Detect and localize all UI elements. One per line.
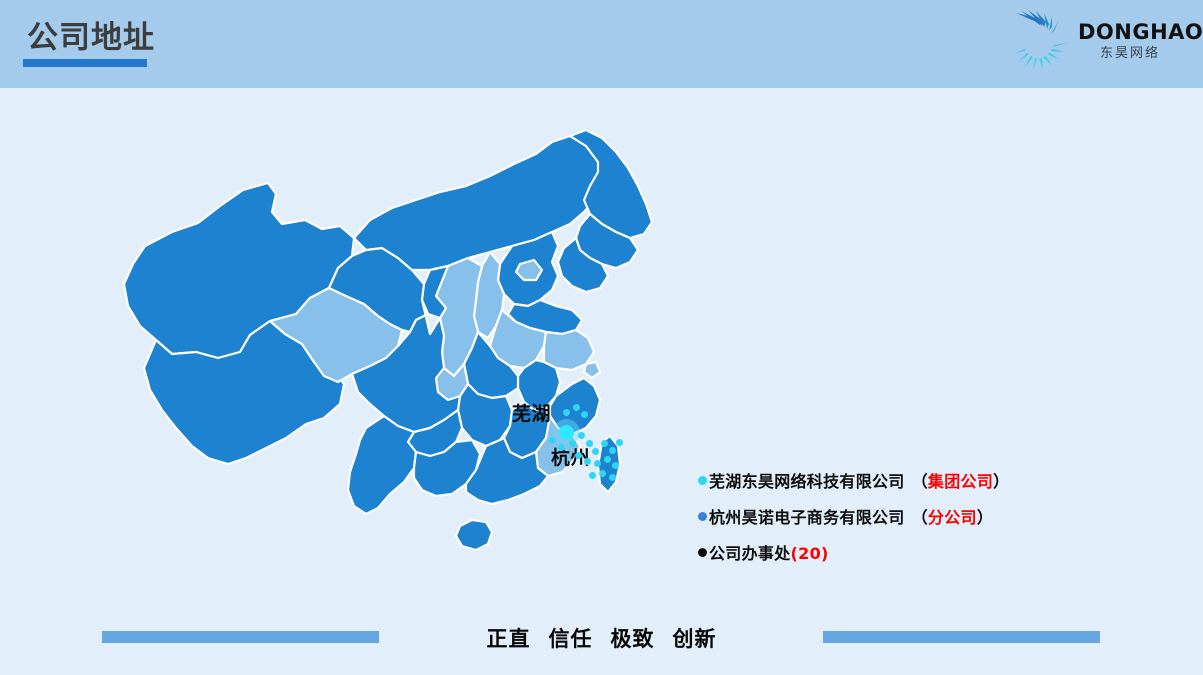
company-logo: DONGHAO 东昊网络 [1006,6,1181,82]
legend-label: 芜湖东昊网络科技有限公司（集团公司） [709,468,1009,492]
slogan-word: 信任 [549,627,593,651]
slogan-word: 创新 [673,627,717,651]
map-label-wuhu: 芜湖 [512,403,551,425]
legend-item-offices[interactable]: 公司办事处(20) [698,534,1118,570]
office-dot[interactable] [612,462,619,469]
slogan-word: 正直 [487,627,531,651]
slide-header: 公司地址 [0,0,1203,88]
office-dot[interactable] [594,460,601,467]
office-dot[interactable] [563,409,570,416]
donghao-fan-logo-icon [1006,8,1076,78]
slide: 公司地址 [0,0,1203,675]
office-dot[interactable] [569,440,576,447]
legend-label: 杭州昊诺电子商务有限公司（分公司） [709,504,993,528]
province-yunnan [348,416,416,514]
legend-item-branch-company[interactable]: 杭州昊诺电子商务有限公司（分公司） [698,498,1118,534]
legend-bullet-blue-icon [698,512,707,521]
title-underline [23,59,147,67]
logo-subtitle: 东昊网络 [1078,45,1182,63]
office-dot[interactable] [609,447,616,454]
map-legend: 芜湖东昊网络科技有限公司（集团公司） 杭州昊诺电子商务有限公司（分公司） 公司办… [698,462,1118,570]
legend-bullet-cyan-icon [698,476,707,485]
page-title: 公司地址 [27,18,155,58]
office-dot[interactable] [575,452,582,459]
office-dot[interactable] [584,458,591,465]
office-dot[interactable] [578,432,585,439]
legend-label: 公司办事处(20) [709,540,829,564]
office-dot[interactable] [599,470,606,477]
province-shanghai [584,362,600,378]
legend-item-group-company[interactable]: 芜湖东昊网络科技有限公司（集团公司） [698,462,1118,498]
china-map [100,128,685,603]
office-dot[interactable] [573,404,580,411]
office-dot[interactable] [592,448,599,455]
office-dot[interactable] [586,440,593,447]
office-dot[interactable] [558,444,565,451]
office-dot[interactable] [581,411,588,418]
legend-bullet-black-icon [698,548,707,557]
china-map-svg [100,128,685,603]
province-hainan [456,520,492,550]
office-dot[interactable] [549,437,556,444]
office-dot[interactable] [589,472,596,479]
slogan-word: 极致 [611,627,655,651]
office-dot[interactable] [601,440,608,447]
office-dot[interactable] [616,439,623,446]
footer-slogan: 正直信任极致创新 [0,626,1203,652]
logo-name: DONGHAO [1078,20,1182,44]
logo-text-block: DONGHAO 东昊网络 [1078,20,1182,63]
office-dot[interactable] [609,474,616,481]
office-dot[interactable] [604,456,611,463]
